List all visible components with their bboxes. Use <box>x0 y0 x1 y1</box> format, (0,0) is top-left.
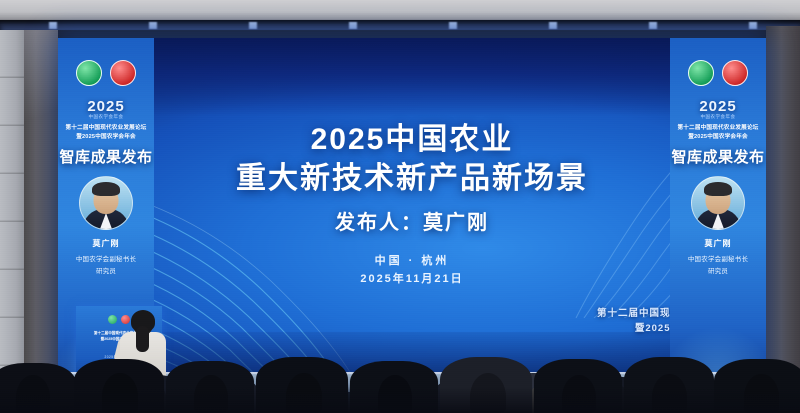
side-panel-left-event: 第十二届中国现代农业发展论坛 暨2025中国农学会年会 <box>62 124 150 142</box>
green-emblem-logo <box>76 60 102 86</box>
screen-title: 2025中国农业 重大新技术新产品新场景 <box>58 120 766 198</box>
side-panel-right-event-line2: 暨2025中国农学会年会 <box>674 133 762 142</box>
portrait-hair <box>704 182 732 196</box>
red-emblem-logo <box>110 60 136 86</box>
speaker-portrait-left <box>79 176 133 230</box>
audience-seated <box>0 330 800 413</box>
side-panel-left-headline: 智库成果发布 <box>58 146 154 167</box>
side-panel-left-event-line2: 暨2025中国农学会年会 <box>62 133 150 142</box>
side-panel-left-logos <box>58 60 154 86</box>
green-emblem-logo <box>108 315 117 324</box>
side-panel-left-year-sub: 中国农学会年会 <box>58 114 154 120</box>
side-panel-right-speaker-name: 莫广刚 <box>670 238 766 249</box>
green-emblem-logo <box>688 60 714 86</box>
red-emblem-logo <box>722 60 748 86</box>
side-panel-right-event: 第十二届中国现代农业发展论坛 暨2025中国农学会年会 <box>674 124 762 142</box>
side-panel-right-year-sub: 中国农学会年会 <box>670 114 766 120</box>
side-panel-right-year: 2025 <box>670 98 766 115</box>
side-panel-left-event-line1: 第十二届中国现代农业发展论坛 <box>62 124 150 133</box>
screen-presenter: 发布人：莫广刚 <box>58 206 766 235</box>
conference-photo: 2025中国农业 重大新技术新产品新场景 发布人：莫广刚 中国 · 杭州 202… <box>0 0 800 413</box>
side-panel-left-speaker-name: 莫广刚 <box>58 238 154 249</box>
screen-place: 中国 · 杭州 <box>58 252 766 268</box>
side-panel-left-year: 2025 <box>58 98 154 115</box>
side-panel-right-headline: 智库成果发布 <box>670 146 766 167</box>
speaker-portrait-right <box>691 176 745 230</box>
side-panel-right-logos <box>670 60 766 86</box>
screen-date: 2025年11月21日 <box>58 270 766 286</box>
portrait-hair <box>92 182 120 196</box>
side-panel-right: 2025 中国农学会年会 第十二届中国现代农业发展论坛 暨2025中国农学会年会… <box>670 38 766 378</box>
side-panel-right-event-line1: 第十二届中国现代农业发展论坛 <box>674 124 762 133</box>
screen-title-line1: 2025中国农业 <box>58 120 766 159</box>
audience-foreground-shadow <box>0 387 800 413</box>
screen-title-line2: 重大新技术新产品新场景 <box>58 159 766 198</box>
